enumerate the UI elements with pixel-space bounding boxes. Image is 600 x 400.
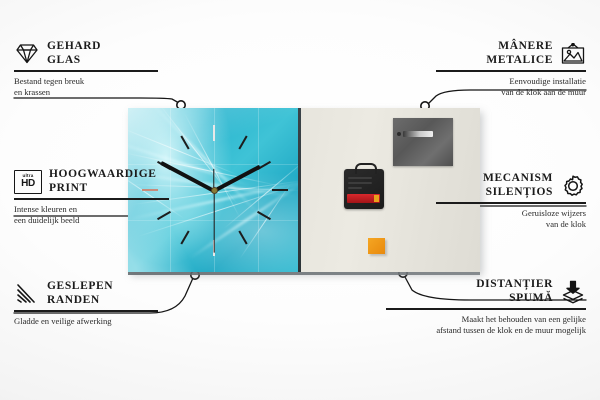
wall-frame-hanger-icon [560,42,586,66]
foam-spacer-pad [368,238,385,254]
gear-icon [560,174,586,198]
feature-description: Bestand tegen breuk en krassen [14,76,164,99]
panel-bottom-edge [128,272,480,275]
ultra-hd-icon: ultra HD [14,170,42,194]
connector-gehard-glas [14,98,179,103]
feature-hoogwaardige-print: ultra HD HOOGWAARDIGE PRINT Intense kleu… [14,168,174,226]
clock-second-hand [213,191,214,253]
feature-title: GESLEPEN RANDEN [47,280,113,307]
feature-title: HOOGWAARDIGE PRINT [49,168,157,195]
feature-description: Geruisloze wijzers van de klok [436,208,586,231]
feature-description: Intense kleuren en een duidelijk beeld [14,204,174,227]
feature-mecanism-silentios: MECANISM SILENȚIOS Geruisloze wijzers va… [436,172,586,230]
clock-center-hub [211,187,218,194]
feature-description: Gladde en veilige afwerking [14,316,164,327]
spacer-stack-icon [560,280,586,304]
feature-title: MECANISM SILENȚIOS [483,172,553,199]
clock-tick-7 [180,231,189,245]
feature-title: DISTANȚIER SPUMĂ [476,278,553,305]
clock-tick-1 [238,136,247,150]
clock-mechanism [344,169,384,209]
clock-tick-5 [238,231,247,245]
metal-hanger-plate [393,118,453,166]
bevelled-edge-icon [14,282,40,306]
panel-center-edge [298,108,301,272]
feature-distantier-spuma: DISTANȚIER SPUMĂ Maakt het behouden van … [386,278,586,336]
clock-tick-3 [272,189,288,191]
feature-manere-metalice: MÂNERE METALICE Eenvoudige installatie [436,40,586,98]
feature-gehard-glas: GEHARD GLAS Bestand tegen breuk en krass… [14,40,164,98]
feature-title: GEHARD GLAS [47,40,101,67]
feature-divider [436,202,586,204]
feature-geslepen-randen: GESLEPEN RANDEN Gladde en veilige afwerk… [14,280,164,327]
feature-divider [14,70,158,72]
feature-description: Eenvoudige installatie van de klok aan d… [436,76,586,99]
feature-divider [436,70,586,72]
feature-divider [14,310,158,312]
diamond-icon [14,42,40,66]
infographic-canvas: GEHARD GLAS Bestand tegen breuk en krass… [0,0,600,400]
feature-title: MÂNERE METALICE [486,40,553,67]
feature-divider [386,308,586,310]
feature-divider [14,198,169,200]
product-image [128,108,480,272]
feature-description: Maakt het behouden van een gelijke afsta… [386,314,586,337]
clock-tick-12 [213,125,215,141]
